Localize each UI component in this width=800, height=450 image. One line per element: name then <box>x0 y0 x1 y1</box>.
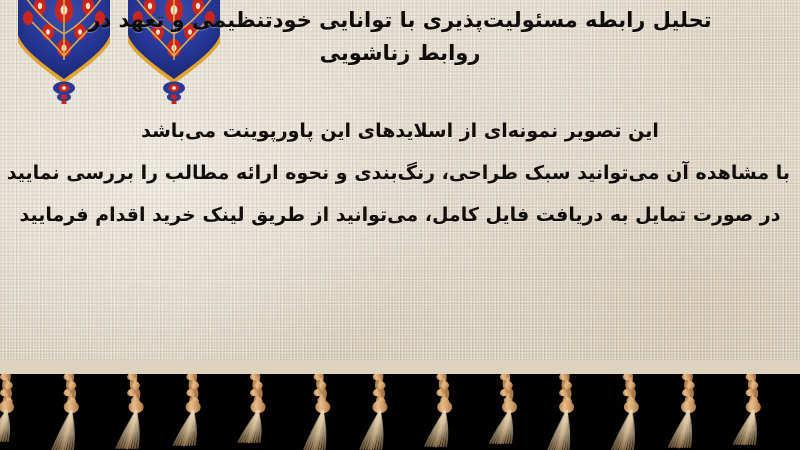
fringe-tassel <box>547 374 574 450</box>
fringe-tassel <box>490 374 517 443</box>
slide-canvas: تحلیل رابطه مسئولیت‌پذیری با توانایی خود… <box>0 0 800 450</box>
body-line-1: این تصویر نمونه‌ای از اسلایدهای این پاور… <box>10 110 790 152</box>
fringe-tassel <box>612 374 639 450</box>
carpet-fringe-band <box>0 374 800 450</box>
body-line-3: در صورت تمایل به دریافت فایل کامل، می‌تو… <box>10 194 790 236</box>
title-line-1: تحلیل رابطه مسئولیت‌پذیری با توانایی خود… <box>20 4 780 37</box>
fringe-tassel <box>52 374 79 450</box>
fringe-tassel <box>174 374 201 445</box>
body-line-2: با مشاهده آن می‌توانید سبک طراحی، رنگ‌بن… <box>10 152 790 194</box>
fringe-tassel <box>734 374 761 444</box>
title-line-2: روابط زناشویی <box>20 37 780 70</box>
text-layer: تحلیل رابطه مسئولیت‌پذیری با توانایی خود… <box>0 0 800 392</box>
slide-body: این تصویر نمونه‌ای از اسلایدهای این پاور… <box>10 110 790 236</box>
fringe-tassel <box>669 374 696 447</box>
carpet-fringe <box>0 374 800 450</box>
slide-title: تحلیل رابطه مسئولیت‌پذیری با توانایی خود… <box>20 4 780 70</box>
fringe-tassel <box>239 374 266 442</box>
fringe-tassel <box>0 374 14 441</box>
fringe-tassel <box>361 374 388 449</box>
fringe-tassel <box>117 374 144 448</box>
fringe-tassel <box>303 374 330 450</box>
fringe-tassel <box>425 374 452 446</box>
